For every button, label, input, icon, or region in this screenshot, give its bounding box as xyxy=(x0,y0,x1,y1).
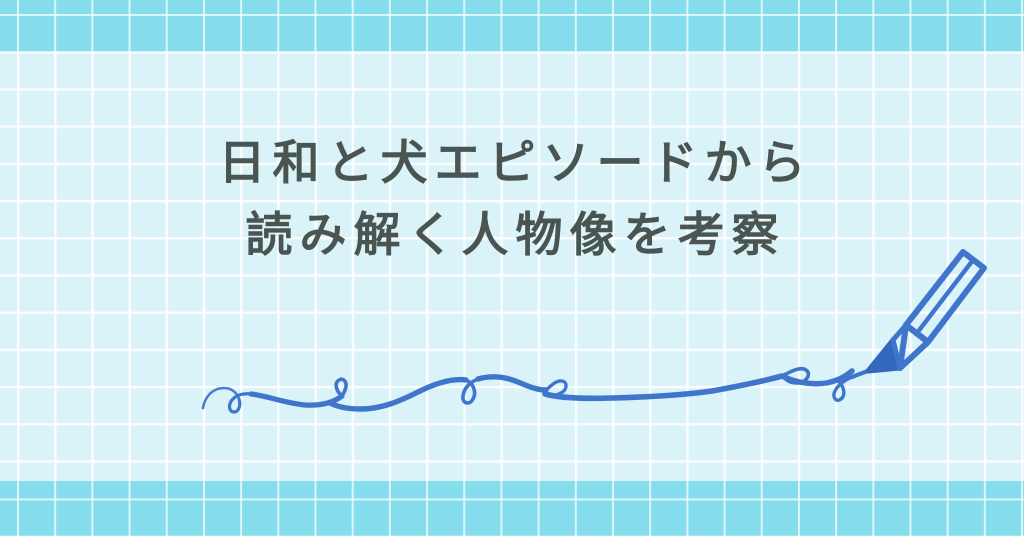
pencil-top-edge xyxy=(953,248,975,264)
pencil-cone-inner-edge xyxy=(893,340,900,368)
pencil-tip xyxy=(868,340,900,371)
bottom-color-band xyxy=(0,481,1024,536)
title-line-1: 日和と犬エピソードから xyxy=(0,128,1024,200)
pencil-cone-left-edge xyxy=(893,325,906,340)
pencil-cone xyxy=(900,325,928,368)
grid-paper-background xyxy=(0,0,1024,536)
top-color-band xyxy=(0,0,1024,52)
page-title: 日和と犬エピソードから 読み解く人物像を考察 xyxy=(0,128,1024,272)
pencil-illustration xyxy=(868,248,984,371)
doodle-layer xyxy=(0,0,1024,536)
bottom-band-grid xyxy=(0,481,1024,536)
top-band-grid xyxy=(0,0,1024,52)
title-line-2: 読み解く人物像を考察 xyxy=(0,200,1024,272)
eyecatch-canvas: 日和と犬エピソードから 読み解く人物像を考察 xyxy=(0,0,1024,536)
pencil-barrel-line-1 xyxy=(917,260,973,333)
grid-paper-background-overlay xyxy=(0,0,1024,536)
pencil-body xyxy=(906,252,984,342)
squiggly-underline xyxy=(203,369,868,412)
